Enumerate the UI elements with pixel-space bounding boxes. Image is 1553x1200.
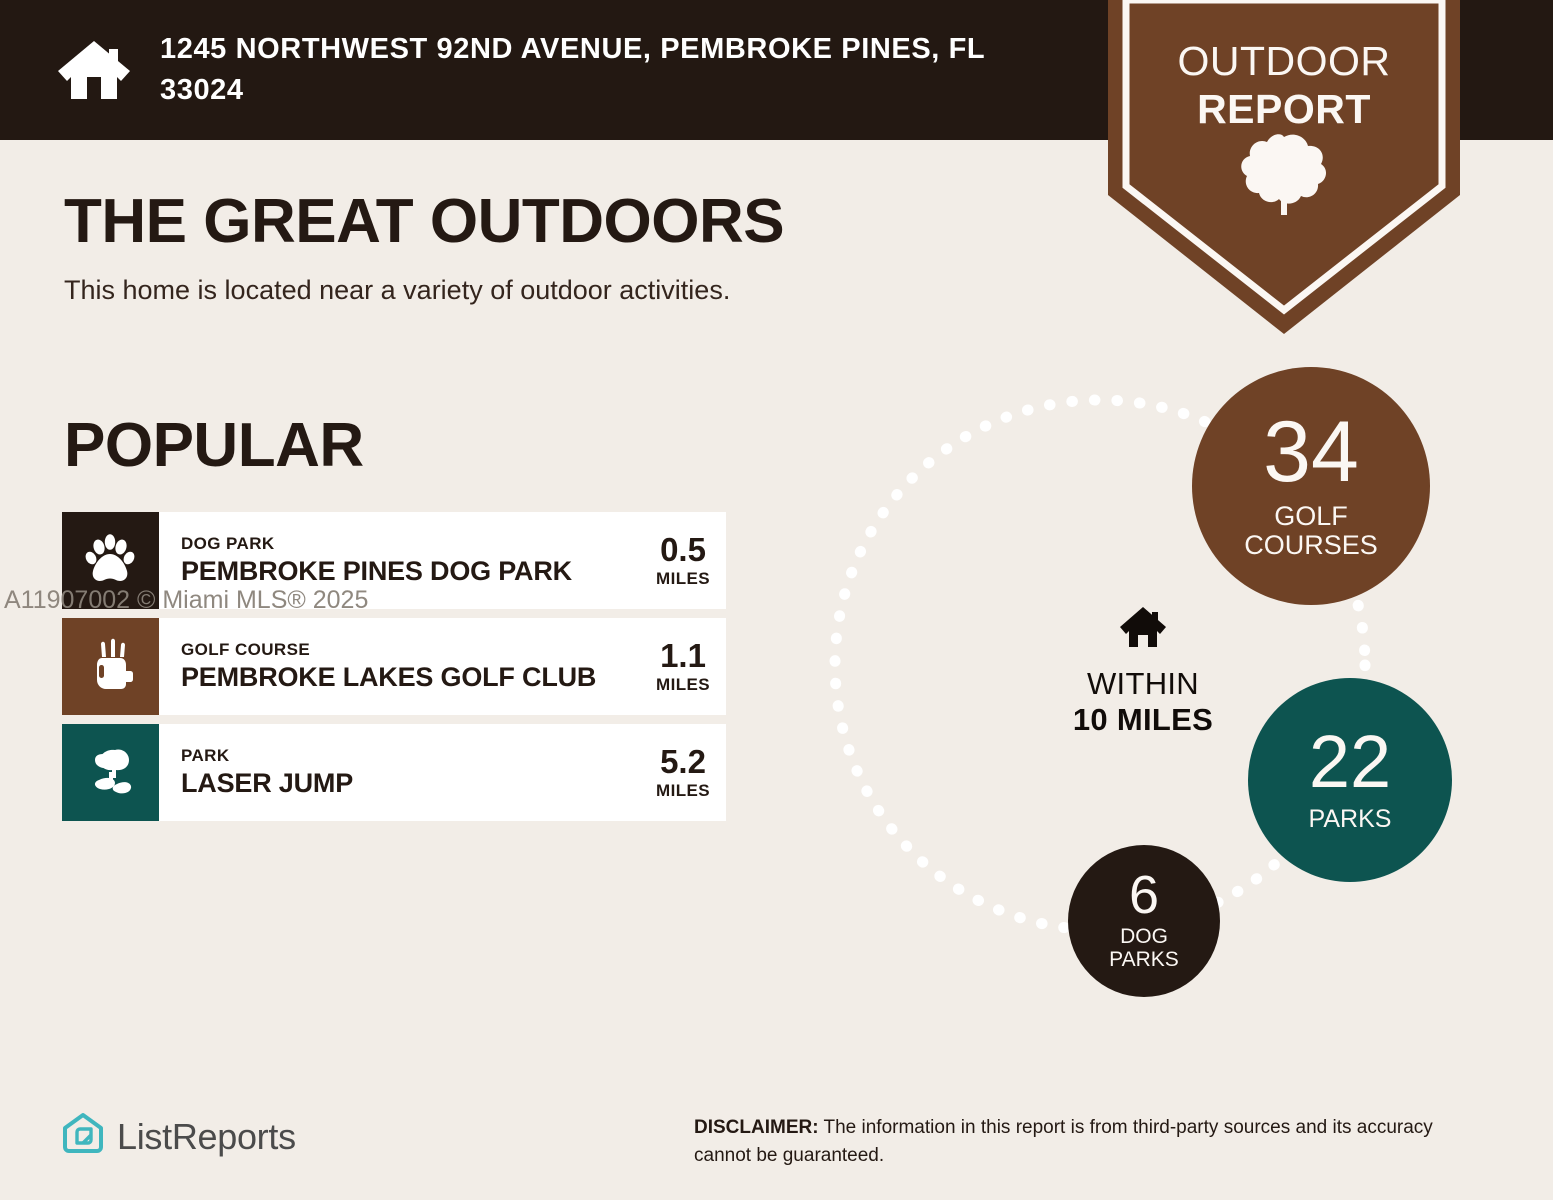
intro-block: THE GREAT OUTDOORS This home is located … [64,186,784,306]
stat-label-line1: PARKS [1309,806,1392,833]
stat-circle-parks: 22 PARKS [1248,678,1452,882]
stat-value: 34 [1263,412,1359,494]
property-address: 1245 NORTHWEST 92ND AVENUE, PEMBROKE PIN… [160,29,1060,111]
stats-diagram: 34 GOLF COURSES 22 PARKS 6 DOG PARKS WIT… [810,355,1490,1045]
disclaimer: DISCLAIMER: The information in this repo… [694,1114,1494,1170]
list-item[interactable]: GOLF COURSE PEMBROKE LAKES GOLF CLUB 1.1… [62,618,726,715]
badge-title-line2: REPORT [1108,86,1460,134]
poi-distance-value: 5.2 [656,745,710,778]
popular-heading: POPULAR [64,410,364,481]
stat-value: 6 [1129,870,1159,921]
stat-label-line2: COURSES [1244,531,1378,560]
poi-distance: 5.2 MILES [656,745,710,801]
home-icon [1118,636,1168,653]
stat-label: GOLF COURSES [1244,502,1378,560]
mls-watermark: A11907002 © Miami MLS® 2025 [4,586,368,615]
within-line1: WITHIN [1038,666,1248,702]
poi-category: GOLF COURSE [181,640,596,660]
poi-body: GOLF COURSE PEMBROKE LAKES GOLF CLUB 1.1… [159,618,726,715]
stat-value: 22 [1309,727,1391,797]
listreports-logo-text: ListReports [117,1116,296,1158]
paw-icon [85,532,137,589]
poi-icon-tile [62,618,159,715]
poi-body: PARK LASER JUMP 5.2 MILES [159,724,726,821]
poi-distance-unit: MILES [656,675,710,695]
poi-category: PARK [181,746,353,766]
badge-title-line1: OUTDOOR [1108,38,1460,86]
page-title: THE GREAT OUTDOORS [64,186,784,257]
poi-distance-value: 0.5 [656,533,710,566]
stat-label-line1: GOLF [1244,502,1378,531]
stat-label-line2: PARKS [1109,949,1179,972]
poi-category: DOG PARK [181,534,572,554]
popular-list: DOG PARK PEMBROKE PINES DOG PARK 0.5 MIL… [62,512,726,830]
page-subtitle: This home is located near a variety of o… [64,275,784,306]
badge-title: OUTDOOR REPORT [1108,38,1460,133]
stat-circle-dog-parks: 6 DOG PARKS [1068,845,1220,997]
listreports-house-icon [60,1111,106,1162]
poi-distance-value: 1.1 [656,639,710,672]
listreports-logo[interactable]: ListReports [60,1111,296,1162]
golf-bag-icon [85,638,137,695]
outdoor-report-badge: OUTDOOR REPORT [1108,0,1460,334]
list-item[interactable]: PARK LASER JUMP 5.2 MILES [62,724,726,821]
poi-icon-tile [62,724,159,821]
stat-circle-golf-courses: 34 GOLF COURSES [1192,367,1430,605]
disclaimer-label: DISCLAIMER: [694,1117,819,1138]
poi-name: LASER JUMP [181,768,353,799]
poi-text: GOLF COURSE PEMBROKE LAKES GOLF CLUB [181,640,596,693]
within-radius-block: WITHIN 10 MILES [1038,605,1248,738]
stat-label: DOG PARKS [1109,926,1179,971]
poi-distance-unit: MILES [656,781,710,801]
poi-distance: 1.1 MILES [656,639,710,695]
poi-name: PEMBROKE PINES DOG PARK [181,556,572,587]
within-line2: 10 MILES [1038,702,1248,738]
poi-distance: 0.5 MILES [656,533,710,589]
park-trees-icon [85,744,137,801]
stat-label: PARKS [1309,806,1392,833]
poi-text: DOG PARK PEMBROKE PINES DOG PARK [181,534,572,587]
poi-name: PEMBROKE LAKES GOLF CLUB [181,662,596,693]
poi-distance-unit: MILES [656,569,710,589]
home-icon [55,37,133,103]
poi-text: PARK LASER JUMP [181,746,353,799]
stat-label-line1: DOG [1109,926,1179,949]
